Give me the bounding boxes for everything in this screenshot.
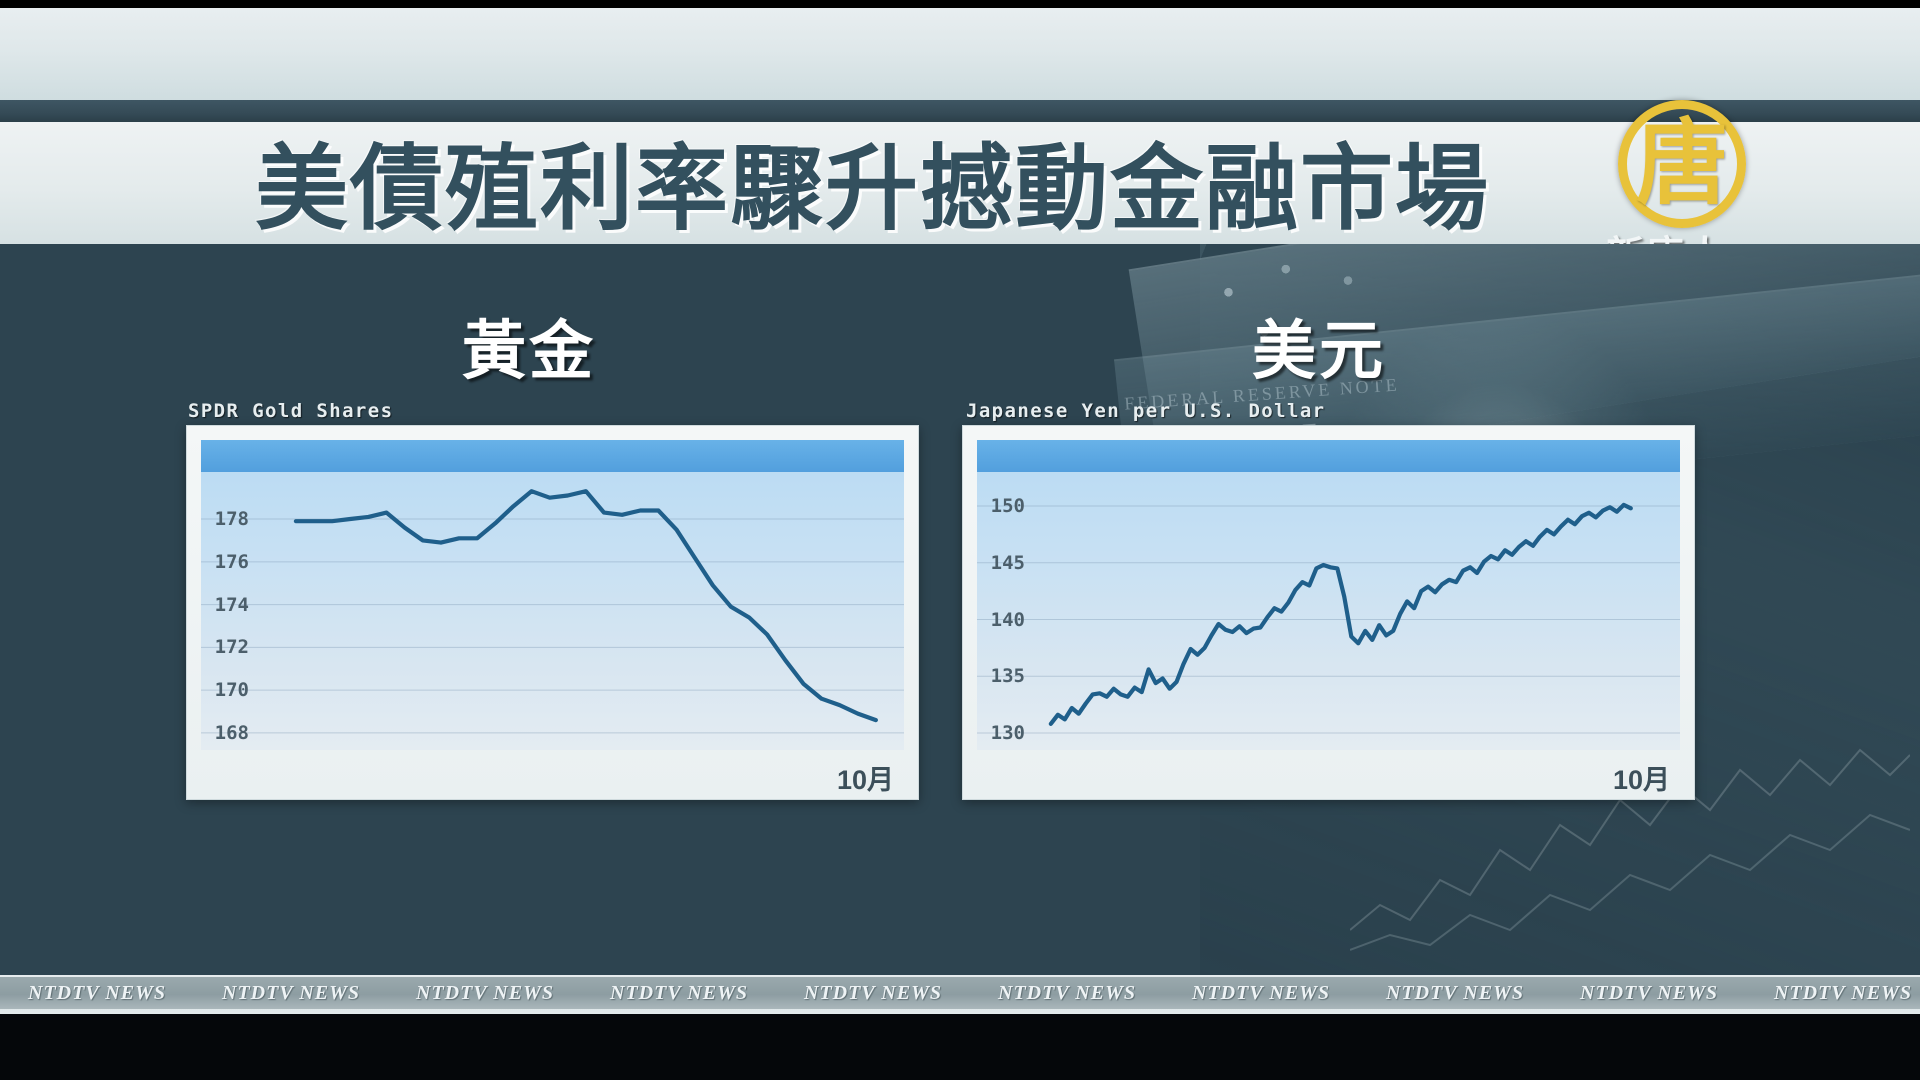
ticker-item: NTDTV NEWS bbox=[582, 982, 776, 1005]
y-tick-label: 145 bbox=[991, 552, 1025, 574]
letterbox-top bbox=[0, 0, 1920, 8]
ticker-item: NTDTV NEWS bbox=[1358, 982, 1552, 1005]
plot-svg-gold bbox=[201, 472, 904, 750]
chart-caption-usd: Japanese Yen per U.S. Dollar bbox=[966, 400, 1326, 422]
x-axis-label-gold: 10月 bbox=[837, 758, 894, 797]
y-tick-label: 135 bbox=[991, 665, 1025, 687]
ticker-item: NTDTV NEWS bbox=[388, 982, 582, 1005]
ticker-item: NTDTV NEWS bbox=[970, 982, 1164, 1005]
y-tick-label: 176 bbox=[215, 551, 249, 573]
plot-header-bar-usd bbox=[977, 440, 1680, 472]
top-gradient-bar bbox=[0, 8, 1920, 100]
chart-card-gold: 178176174172170168 10月 bbox=[186, 425, 919, 800]
tang-glyph-icon: 唐 bbox=[1618, 100, 1746, 228]
ticker-item: NTDTV NEWS bbox=[0, 982, 194, 1005]
news-ticker: NTDTV NEWSNTDTV NEWSNTDTV NEWSNTDTV NEWS… bbox=[0, 975, 1920, 1009]
ticker-item: NTDTV NEWS bbox=[776, 982, 970, 1005]
plot-area-usd: 150145140135130 bbox=[977, 440, 1680, 750]
plot-body-usd: 150145140135130 bbox=[977, 472, 1680, 750]
x-axis-label-usd: 10月 bbox=[1613, 758, 1670, 797]
y-tick-label: 178 bbox=[215, 508, 249, 530]
plot-body-gold: 178176174172170168 bbox=[201, 472, 904, 750]
chart-card-usd: 150145140135130 10月 bbox=[962, 425, 1695, 800]
ticker-item: NTDTV NEWS bbox=[1746, 982, 1920, 1005]
ticker-item: NTDTV NEWS bbox=[1164, 982, 1358, 1005]
chart-caption-gold: SPDR Gold Shares bbox=[188, 400, 393, 422]
plot-area-gold: 178176174172170168 bbox=[201, 440, 904, 750]
plot-header-bar-gold bbox=[201, 440, 904, 472]
page-title: 美債殖利率驟升撼動金融市場 bbox=[255, 120, 1595, 240]
ticker-item: NTDTV NEWS bbox=[194, 982, 388, 1005]
y-tick-label: 172 bbox=[215, 636, 249, 658]
section-title-gold: 黃金 bbox=[462, 300, 596, 392]
y-tick-label: 170 bbox=[215, 679, 249, 701]
letterbox-bottom bbox=[0, 1014, 1920, 1080]
y-tick-label: 140 bbox=[991, 609, 1025, 631]
y-tick-label: 174 bbox=[215, 594, 249, 616]
broadcast-screen: 美債殖利率驟升撼動金融市場 唐 新唐人 亞太台 FEDERAL RESERVE … bbox=[0, 0, 1920, 1080]
plot-svg-usd bbox=[977, 472, 1680, 750]
ticker-item: NTDTV NEWS bbox=[1552, 982, 1746, 1005]
y-tick-label: 150 bbox=[991, 495, 1025, 517]
y-tick-label: 130 bbox=[991, 722, 1025, 744]
section-title-usd: 美元 bbox=[1252, 300, 1386, 392]
y-tick-label: 168 bbox=[215, 722, 249, 744]
